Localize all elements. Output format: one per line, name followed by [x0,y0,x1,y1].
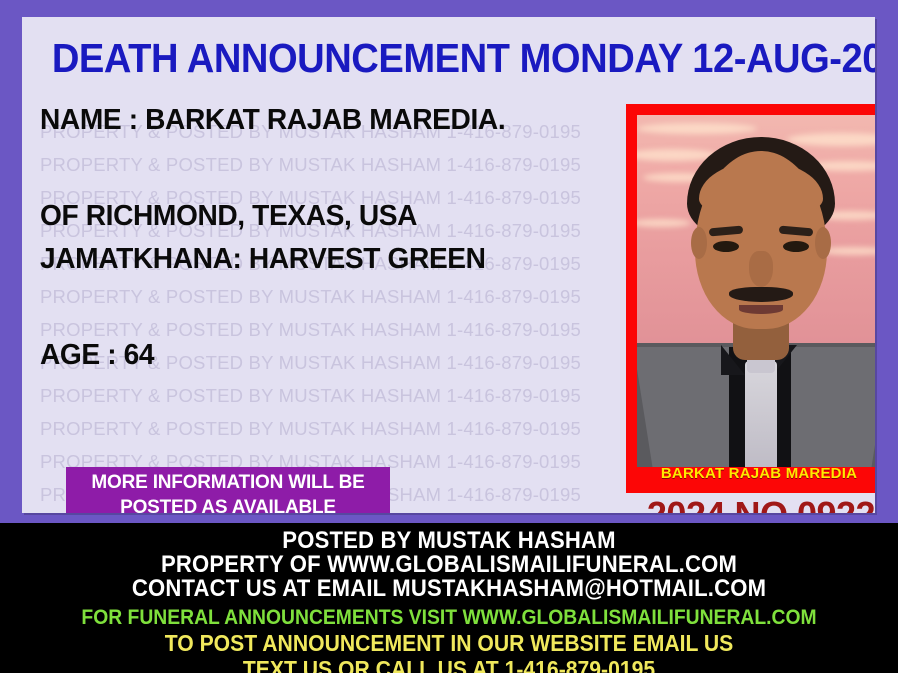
portrait-caption: BARKAT RAJAB MAREDIA [626,465,875,482]
footer-property-of: PROPERTY OF WWW.GLOBALISMAILIFUNERAL.COM [36,553,862,577]
deceased-jamatkhana: JAMATKHANA: HARVEST GREEN [40,242,593,276]
cloud-streak-icon [637,123,757,134]
eye-right [783,241,809,252]
footer-posted-by: POSTED BY MUSTAK HASHAM [36,529,862,553]
cloud-streak-icon [637,219,691,227]
footer-website-visit: FOR FUNERAL ANNOUNCEMENTS VISIT WWW.GLOB… [36,605,862,630]
deceased-info-column: NAME : BARKAT RAJAB MAREDIA. OF RICHMOND… [40,103,610,372]
deceased-name: NAME : BARKAT RAJAB MAREDIA. [40,103,593,137]
notice-line-2: POSTED AS AVAILABLE [66,495,390,513]
mouth [739,305,783,314]
necktie [745,361,777,467]
footer-banner: POSTED BY MUSTAK HASHAM PROPERTY OF WWW.… [0,523,898,673]
cloud-streak-icon [787,133,875,146]
announcement-panel: PROPERTY & POSTED BY MUSTAK HASHAM 1-416… [22,17,875,513]
ear-right [815,227,831,259]
purple-border-frame: PROPERTY & POSTED BY MUSTAK HASHAM 1-416… [0,0,898,523]
ear-left [691,227,707,259]
notice-line-1: MORE INFORMATION WILL BE [66,470,390,495]
nose [749,251,773,287]
portrait-frame: BARKAT RAJAB MAREDIA [626,104,875,493]
portrait-photo [637,115,875,467]
page-title: DEATH ANNOUNCEMENT MONDAY 12-AUG-2024 [52,35,845,81]
deceased-age: AGE : 64 [40,338,593,372]
eye-left [713,241,739,252]
announcement-reference-number: 2024 NO.0922 [626,495,875,513]
mustache [729,287,793,302]
death-announcement-poster: PROPERTY & POSTED BY MUSTAK HASHAM 1-416… [0,0,898,673]
footer-contact-email: CONTACT US AT EMAIL MUSTAKHASHAM@HOTMAIL… [36,577,862,601]
footer-phone: TEXT US OR CALL US AT 1-416-879-0195 [36,656,862,673]
more-information-notice: MORE INFORMATION WILL BE POSTED AS AVAIL… [66,467,390,513]
deceased-location: OF RICHMOND, TEXAS, USA [40,199,593,233]
footer-post-announcement: TO POST ANNOUNCEMENT IN OUR WEBSITE EMAI… [36,630,862,656]
